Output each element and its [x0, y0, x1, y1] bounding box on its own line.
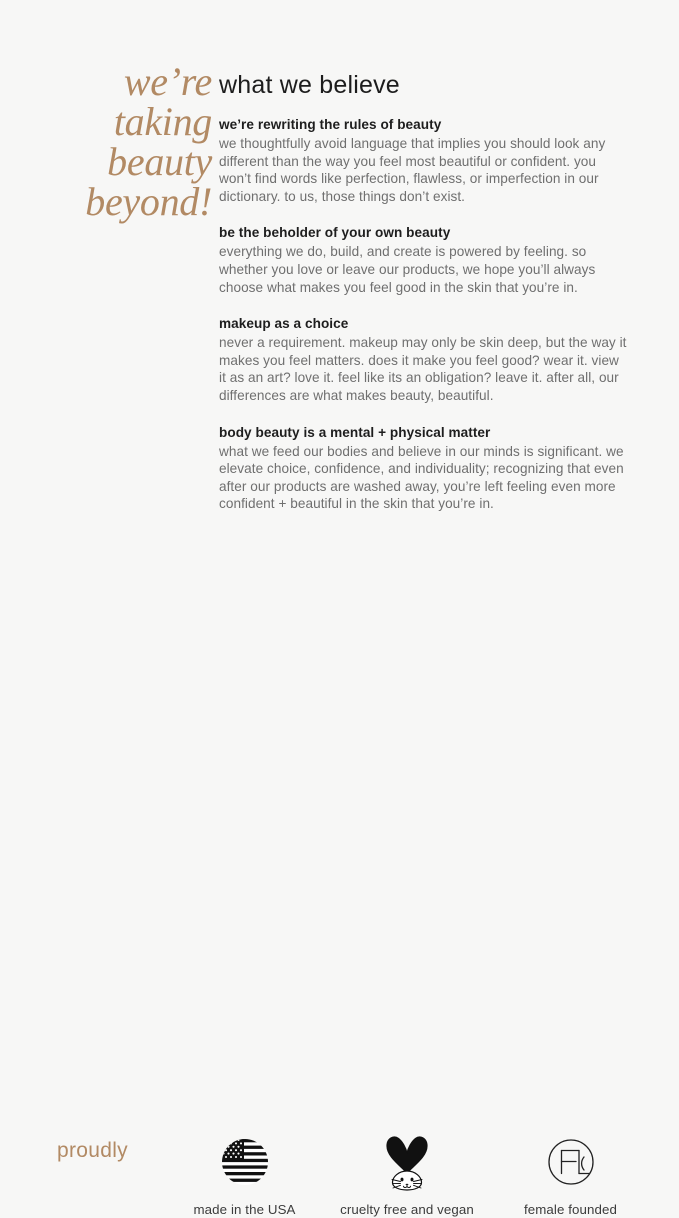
belief-block: we’re rewriting the rules of beauty we t…: [219, 116, 629, 205]
cruelty-free-bunny-icon: [323, 1133, 491, 1191]
page-title: what we believe: [219, 71, 629, 99]
headline-line-3: beauty: [0, 142, 212, 182]
badge-female-founded: female founded: [498, 1133, 643, 1218]
belief-heading: we’re rewriting the rules of beauty: [219, 116, 629, 134]
belief-heading: be the beholder of your own beauty: [219, 224, 629, 242]
usa-flag-circle-icon: [172, 1133, 317, 1191]
badge-label: made in the USA: [172, 1202, 317, 1218]
badge-label: cruelty free and vegan: [323, 1202, 491, 1218]
belief-heading: makeup as a choice: [219, 315, 629, 333]
belief-block: be the beholder of your own beauty every…: [219, 224, 629, 296]
belief-body: everything we do, build, and create is p…: [219, 243, 629, 296]
belief-body: never a requirement. makeup may only be …: [219, 334, 629, 404]
headline-line-4: beyond!: [0, 182, 212, 222]
beliefs-content: what we believe we’re rewriting the rule…: [219, 71, 629, 513]
badge-label: female founded: [498, 1202, 643, 1218]
belief-block: makeup as a choice never a requirement. …: [219, 315, 629, 404]
belief-heading: body beauty is a mental + physical matte…: [219, 424, 629, 442]
badge-cruelty-free: cruelty free and vegan: [323, 1133, 491, 1218]
display-headline: we’re taking beauty beyond!: [0, 62, 212, 222]
belief-body: what we feed our bodies and believe in o…: [219, 443, 629, 513]
belief-body: we thoughtfully avoid language that impl…: [219, 135, 629, 205]
belief-block: body beauty is a mental + physical matte…: [219, 424, 629, 513]
headline-line-1: we’re: [0, 62, 212, 102]
badge-row: proudly: [0, 563, 679, 663]
page-root: we’re taking beauty beyond! what we beli…: [0, 0, 679, 679]
proudly-label: proudly: [57, 1139, 128, 1163]
female-founded-monogram-icon: [498, 1133, 643, 1191]
headline-line-2: taking: [0, 102, 212, 142]
badge-made-in-usa: made in the USA: [172, 1133, 317, 1218]
